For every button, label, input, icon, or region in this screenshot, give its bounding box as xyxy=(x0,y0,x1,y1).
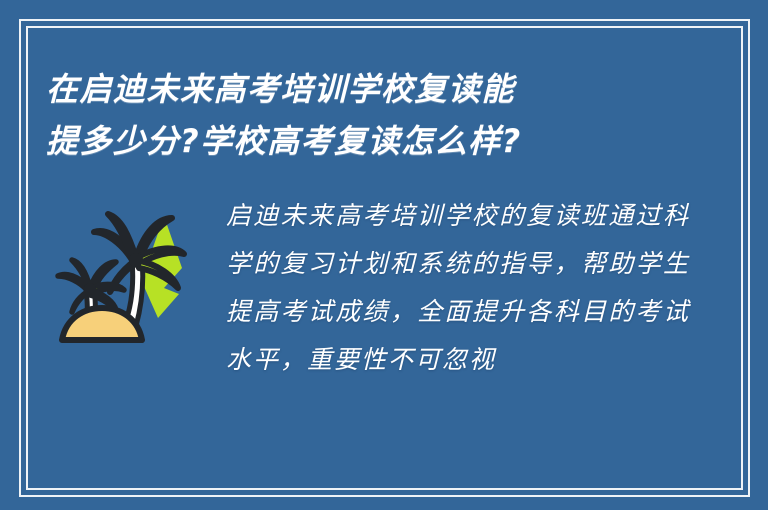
body-area: 启迪未来高考培训学校的复读班通过科学的复习计划和系统的指导，帮助学生提高考试成绩… xyxy=(46,192,724,466)
article-cover-card: 在启迪未来高考培训学校复读能 提多少分?学校高考复读怎么样? xyxy=(0,0,768,510)
headline-line-1: 在启迪未来高考培训学校复读能 xyxy=(46,63,706,115)
palm-trees-icon xyxy=(46,198,206,358)
headline: 在启迪未来高考培训学校复读能 提多少分?学校高考复读怎么样? xyxy=(46,63,706,167)
headline-line-2: 提多少分?学校高考复读怎么样? xyxy=(46,115,706,167)
description-text: 启迪未来高考培训学校的复读班通过科学的复习计划和系统的指导，帮助学生提高考试成绩… xyxy=(206,192,724,384)
